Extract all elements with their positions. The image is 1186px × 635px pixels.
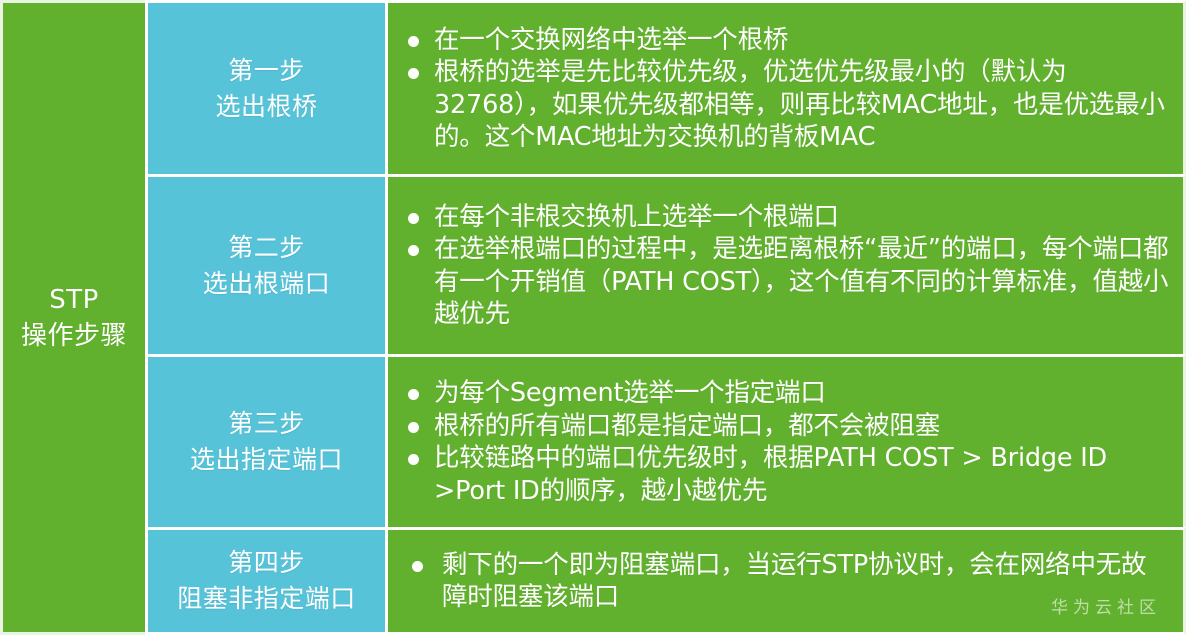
content-cell-3: 为每个Segment选举一个指定端口 根桥的所有端口都是指定端口，都不会被阻塞 …: [388, 354, 1186, 527]
step-cell-1-line-1: 第一步: [215, 53, 317, 89]
content-cell-4: 剩下的一个即为阻塞端口，当运行STP协议时，会在网络中无故障时阻塞该端口 华为云…: [388, 527, 1186, 635]
stp-steps-table-container: STP 操作步骤 第一步 选出根桥 在一个交换网络中选举一个根桥 根桥的选举是先…: [0, 0, 1186, 635]
list-item: 比较链路中的端口优先级时，根据PATH COST > Bridge ID >Po…: [400, 442, 1169, 507]
list-item: 根桥的选举是先比较优先级，优选优先级最小的（默认为32768），如果优先级都相等…: [400, 56, 1169, 154]
step-cell-4-line-2: 阻塞非指定端口: [177, 581, 356, 617]
list-item: 剩下的一个即为阻塞端口，当运行STP协议时，会在网络中无故障时阻塞该端口: [400, 549, 1169, 614]
step-cell-2: 第二步 选出根端口: [145, 174, 388, 354]
step-cell-3-line-2: 选出指定端口: [190, 442, 343, 478]
step-cell-4-text: 第四步 阻塞非指定端口: [177, 545, 356, 617]
step-cell-1-line-2: 选出根桥: [215, 89, 317, 125]
step-cell-4: 第四步 阻塞非指定端口: [145, 527, 388, 635]
step-cell-3-line-1: 第三步: [190, 406, 343, 442]
list-item: 在选举根端口的过程中，是选距离根桥“最近”的端口，每个端口都有一个开销值（PAT…: [400, 233, 1169, 331]
step-cell-2-text: 第二步 选出根端口: [203, 230, 331, 302]
step-cell-3: 第三步 选出指定端口: [145, 354, 388, 527]
list-item: 为每个Segment选举一个指定端口: [400, 377, 1169, 410]
content-cell-3-bullet-list: 为每个Segment选举一个指定端口 根桥的所有端口都是指定端口，都不会被阻塞 …: [400, 377, 1169, 507]
table-label-column: STP 操作步骤: [0, 0, 145, 635]
step-cell-4-line-1: 第四步: [177, 545, 356, 581]
list-item: 根桥的所有端口都是指定端口，都不会被阻塞: [400, 410, 1169, 443]
step-cell-1-text: 第一步 选出根桥: [215, 53, 317, 125]
table-label-line-1: STP: [21, 282, 127, 318]
content-cell-4-bullet-list: 剩下的一个即为阻塞端口，当运行STP协议时，会在网络中无故障时阻塞该端口: [400, 549, 1169, 614]
content-cell-1-bullet-list: 在一个交换网络中选举一个根桥 根桥的选举是先比较优先级，优选优先级最小的（默认为…: [400, 24, 1169, 154]
table-label-line-2: 操作步骤: [21, 318, 127, 354]
content-cell-2-bullet-list: 在每个非根交换机上选举一个根端口 在选举根端口的过程中，是选距离根桥“最近”的端…: [400, 201, 1169, 331]
content-cell-1: 在一个交换网络中选举一个根桥 根桥的选举是先比较优先级，优选优先级最小的（默认为…: [388, 0, 1186, 174]
content-cell-2: 在每个非根交换机上选举一个根端口 在选举根端口的过程中，是选距离根桥“最近”的端…: [388, 174, 1186, 354]
list-item: 在一个交换网络中选举一个根桥: [400, 24, 1169, 57]
list-item: 在每个非根交换机上选举一个根端口: [400, 201, 1169, 234]
table-label-column-text: STP 操作步骤: [21, 282, 127, 354]
step-cell-2-line-1: 第二步: [203, 230, 331, 266]
step-cell-1: 第一步 选出根桥: [145, 0, 388, 174]
stp-steps-table: STP 操作步骤 第一步 选出根桥 在一个交换网络中选举一个根桥 根桥的选举是先…: [0, 0, 1186, 635]
step-cell-3-text: 第三步 选出指定端口: [190, 406, 343, 478]
step-cell-2-line-2: 选出根端口: [203, 266, 331, 302]
